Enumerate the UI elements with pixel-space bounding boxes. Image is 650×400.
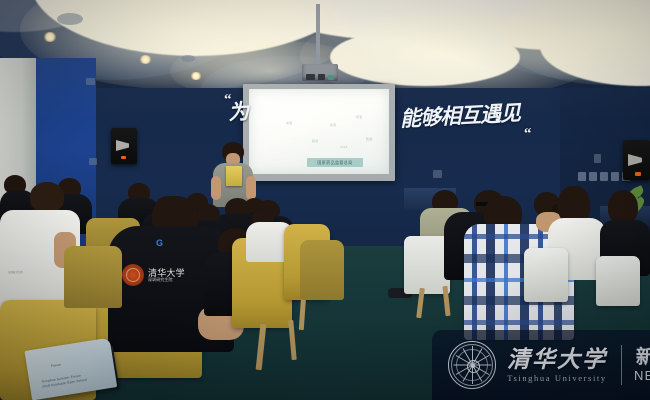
tsinghua-name-en: Tsinghua University xyxy=(507,373,607,383)
booklet-line-small: Forum xyxy=(51,363,62,368)
ceiling-vent-1 xyxy=(57,13,83,25)
control-button-4[interactable] xyxy=(611,172,619,181)
slide-text-1: 中国 xyxy=(286,122,292,125)
news-label-cn: 新闻 xyxy=(634,347,650,368)
calligraphy-right-phrase: 能够相互遇见 xyxy=(399,97,520,133)
projector-mount-rod xyxy=(316,4,320,66)
tsinghua-wordmark: 清华大学 Tsinghua University xyxy=(507,347,607,383)
white-tee-print: 深圳研究生院 xyxy=(8,272,23,275)
tsinghua-name-cn: 清华大学 xyxy=(507,347,607,372)
tee-brand-mark-front: G xyxy=(156,238,163,248)
slide-highlight-text: 国家药品监管总局 xyxy=(309,160,361,165)
chair-yellow-front-back xyxy=(64,246,122,308)
slide-text-2: 新药 xyxy=(330,124,336,127)
slide-text-4: 趋势 xyxy=(312,140,318,143)
chair-yellow-far-1 xyxy=(300,240,344,300)
audience-head-white-tee xyxy=(30,182,64,212)
wall-speaker-right xyxy=(623,140,650,180)
ceiling-vent-2 xyxy=(181,55,195,62)
wall-plate-right xyxy=(433,170,442,178)
slide-text-3: 研发 xyxy=(356,116,362,119)
downlight-3 xyxy=(190,72,202,80)
tsinghua-university-seal-icon xyxy=(448,341,496,389)
ceiling xyxy=(0,0,650,96)
chair-white-right-3 xyxy=(596,256,640,306)
ceiling-projector xyxy=(302,64,338,81)
slide-text-5: 2018 xyxy=(340,146,347,149)
control-button-2[interactable] xyxy=(589,172,597,181)
news-label-en: NEWS xyxy=(634,368,650,383)
downlight-2 xyxy=(139,55,152,64)
slide-text-6: 数据 xyxy=(366,138,372,141)
presenter-arm-left xyxy=(211,176,221,200)
tsinghua-seal-icon xyxy=(122,264,144,286)
wall-speaker-left xyxy=(111,128,137,164)
tsinghua-news-watermark: 清华大学 Tsinghua University 新闻 NEWS xyxy=(432,330,650,400)
presenter-handout xyxy=(226,166,242,186)
watermark-divider xyxy=(621,345,622,385)
tee-sub-text: 深圳研究生院 xyxy=(148,279,173,282)
control-button-1[interactable] xyxy=(578,172,586,181)
downlight-1 xyxy=(43,32,57,42)
control-button-3[interactable] xyxy=(600,172,608,181)
presenter-arm-right xyxy=(246,176,256,200)
news-wordmark: 新闻 NEWS xyxy=(634,347,650,383)
chair-white-right-2 xyxy=(524,248,568,302)
wall-plate-far-right xyxy=(594,154,601,163)
calligraphy-left-char: 为 xyxy=(227,95,250,126)
wall-outlet-left xyxy=(89,158,97,165)
wall-sign-left xyxy=(86,78,95,85)
photo-screenshot: 中国 新药 研发 趋势 2018 数据 国家药品监管总局 “ 为 能够相互遇见 … xyxy=(0,0,650,400)
calligraphy-quote-close: ” xyxy=(524,118,532,135)
audience-head-right-5 xyxy=(608,190,638,224)
